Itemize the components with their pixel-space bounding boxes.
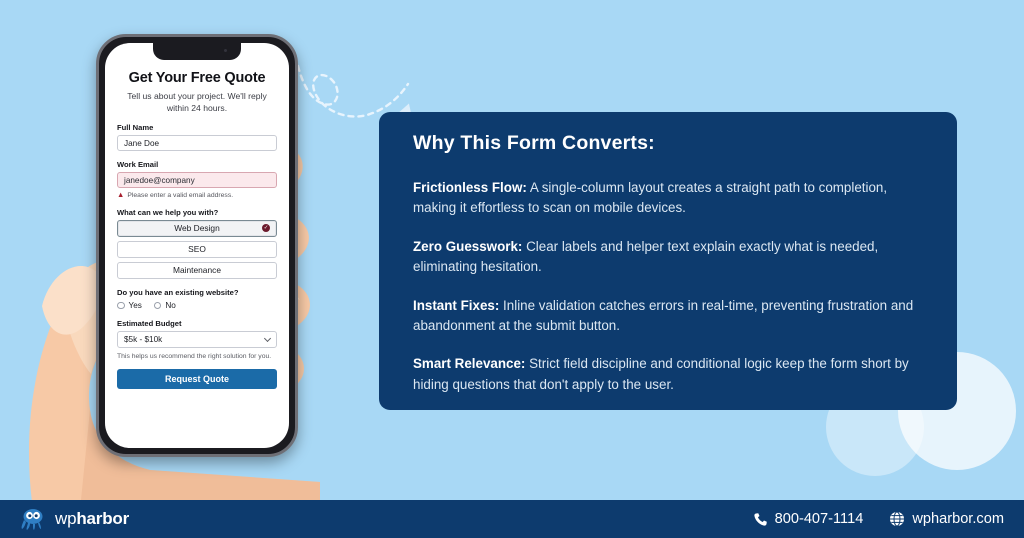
list-item: Instant Fixes: Inline validation catches… — [413, 296, 929, 337]
service-option-maintenance[interactable]: Maintenance — [117, 262, 277, 279]
octopus-mascot-icon — [20, 507, 46, 531]
form-subtitle: Tell us about your project. We'll reply … — [117, 90, 277, 114]
full-name-input[interactable]: Jane Doe — [117, 135, 277, 151]
brand-name-bold: harbor — [76, 509, 129, 528]
radio-option-yes[interactable]: Yes — [117, 301, 142, 310]
panel-title: Why This Form Converts: — [413, 132, 655, 155]
services-label: What can we help you with? — [117, 208, 277, 217]
why-converts-panel: Why This Form Converts: Frictionless Flo… — [379, 112, 957, 410]
budget-select[interactable]: $5k - $10k — [117, 331, 277, 348]
radio-circle-icon — [117, 302, 125, 310]
request-quote-button[interactable]: Request Quote — [117, 369, 277, 389]
budget-helper-text: This helps us recommend the right soluti… — [117, 352, 277, 361]
list-item: Zero Guesswork: Clear labels and helper … — [413, 237, 929, 278]
service-option-seo[interactable]: SEO — [117, 241, 277, 258]
phone-notch — [153, 43, 241, 60]
brand-logo[interactable]: wpharbor — [20, 507, 129, 531]
chevron-down-icon — [264, 335, 271, 342]
radio-option-no[interactable]: No — [154, 301, 176, 310]
list-item: Smart Relevance: Strict field discipline… — [413, 354, 929, 395]
footer-phone-number: 800-407-1114 — [775, 511, 864, 527]
work-email-input[interactable]: janedoe@company — [117, 172, 277, 188]
bullet-heading: Frictionless Flow: — [413, 180, 527, 195]
footer-bar: wpharbor 800-407-1114 — [0, 500, 1024, 538]
radio-circle-icon — [154, 302, 162, 310]
radio-label: No — [165, 301, 175, 310]
footer-website[interactable]: wpharbor.com — [889, 511, 1004, 527]
footer-contact-group: 800-407-1114 wpharbor.com — [753, 511, 1004, 527]
front-camera-icon — [224, 49, 227, 52]
list-item: Frictionless Flow: A single-column layou… — [413, 178, 929, 219]
full-name-label: Full Name — [117, 123, 277, 132]
warning-triangle-icon: ▲ — [117, 191, 124, 198]
email-error-text: Please enter a valid email address. — [127, 192, 233, 199]
budget-label: Estimated Budget — [117, 319, 277, 328]
infographic-canvas: Why This Form Converts: Frictionless Flo… — [0, 0, 1024, 538]
existing-site-label: Do you have an existing website? — [117, 288, 277, 297]
globe-icon — [889, 511, 905, 527]
brand-name-light: wp — [55, 509, 76, 528]
check-circle-icon: ✓ — [262, 224, 270, 232]
quote-form: Get Your Free Quote Tell us about your p… — [105, 60, 289, 389]
phone-icon — [753, 512, 768, 527]
service-option-label: Web Design — [174, 223, 219, 233]
footer-website-text: wpharbor.com — [912, 511, 1004, 527]
panel-bullet-list: Frictionless Flow: A single-column layou… — [413, 178, 929, 395]
brand-name: wpharbor — [55, 509, 129, 529]
service-option-label: SEO — [188, 244, 206, 254]
smartphone-mockup: Get Your Free Quote Tell us about your p… — [96, 34, 298, 457]
bullet-heading: Zero Guesswork: — [413, 239, 522, 254]
email-error-message: ▲ Please enter a valid email address. — [117, 191, 277, 198]
bullet-heading: Instant Fixes: — [413, 298, 499, 313]
budget-selected-value: $5k - $10k — [124, 335, 162, 344]
phone-screen: Get Your Free Quote Tell us about your p… — [105, 43, 289, 448]
footer-phone[interactable]: 800-407-1114 — [753, 511, 864, 527]
existing-site-radio-group: Yes No — [117, 301, 277, 310]
form-title: Get Your Free Quote — [117, 70, 277, 86]
service-option-web-design[interactable]: Web Design ✓ — [117, 220, 277, 237]
service-option-label: Maintenance — [173, 265, 221, 275]
bullet-heading: Smart Relevance: — [413, 356, 525, 371]
work-email-label: Work Email — [117, 160, 277, 169]
radio-label: Yes — [129, 301, 142, 310]
